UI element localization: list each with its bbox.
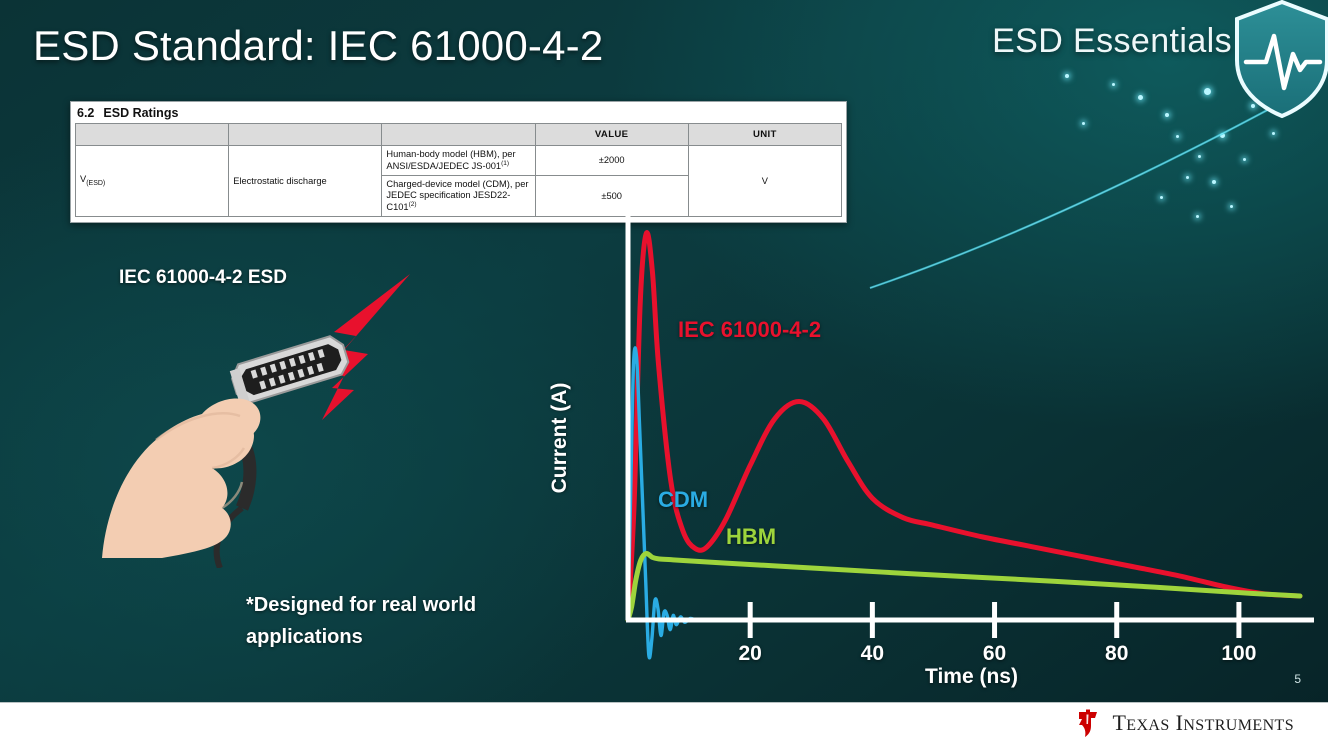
x-tick-label: 100 bbox=[1221, 642, 1256, 666]
page-title: ESD Standard: IEC 61000-4-2 bbox=[33, 22, 603, 70]
cell-value: ±2000 bbox=[535, 146, 688, 176]
texas-instruments-logo: TEXAS INSTRUMENTS bbox=[1073, 706, 1294, 740]
ti-texas-mark-icon bbox=[1073, 708, 1103, 738]
ti-wordmark-nstruments: NSTRUMENTS bbox=[1183, 717, 1294, 734]
hand-holding-hdmi-connector-icon bbox=[92, 258, 432, 568]
table-header-row: VALUE UNIT bbox=[76, 124, 842, 146]
x-tick-label: 60 bbox=[983, 642, 1006, 666]
table-header-parameter bbox=[229, 124, 382, 146]
symbol-subscript: (ESD) bbox=[86, 180, 105, 187]
x-tick-label: 20 bbox=[738, 642, 761, 666]
table-header-unit: UNIT bbox=[688, 124, 841, 146]
table-header-condition bbox=[382, 124, 535, 146]
chart-plot-area bbox=[560, 196, 1328, 696]
cell-parameter: Electrostatic discharge bbox=[229, 146, 382, 217]
table-section-heading: 6.2ESD Ratings bbox=[71, 102, 846, 123]
slide-canvas: ESD Standard: IEC 61000-4-2 ESD Essentia… bbox=[0, 0, 1328, 746]
ti-wordmark-t: T bbox=[1112, 710, 1126, 735]
esd-waveform-chart: 20406080100 bbox=[560, 196, 1328, 696]
series-label-iec: IEC 61000-4-2 bbox=[678, 317, 821, 343]
y-axis-label: Current (A) bbox=[548, 383, 572, 494]
shield-pulse-icon bbox=[1230, 0, 1328, 124]
table-header-symbol bbox=[76, 124, 229, 146]
ti-wordmark-exas: EXAS bbox=[1126, 717, 1169, 734]
footnote-marker: (1) bbox=[501, 160, 509, 167]
series-label-hbm: HBM bbox=[726, 524, 776, 550]
footnote-marker: (2) bbox=[409, 201, 417, 208]
table-section-title: ESD Ratings bbox=[103, 106, 178, 120]
table-header-value: VALUE bbox=[535, 124, 688, 146]
condition-text: Human-body model (HBM), per ANSI/ESDA/JE… bbox=[386, 149, 515, 171]
table-section-number: 6.2 bbox=[77, 106, 94, 120]
cell-symbol: V(ESD) bbox=[76, 146, 229, 217]
x-tick-label: 80 bbox=[1105, 642, 1128, 666]
page-number: 5 bbox=[1294, 672, 1301, 686]
cell-condition: Human-body model (HBM), per ANSI/ESDA/JE… bbox=[382, 146, 535, 176]
footnote-note: *Designed for real world applications bbox=[246, 589, 546, 653]
series-label-cdm: CDM bbox=[658, 487, 708, 513]
slide-footer: TEXAS INSTRUMENTS bbox=[0, 702, 1328, 746]
table-row: V(ESD) Electrostatic discharge Human-bod… bbox=[76, 146, 842, 176]
brand-label: ESD Essentials bbox=[992, 22, 1232, 61]
ti-wordmark: TEXAS INSTRUMENTS bbox=[1112, 710, 1294, 736]
x-tick-label: 40 bbox=[861, 642, 884, 666]
cell-condition: Charged-device model (CDM), per JEDEC sp… bbox=[382, 176, 535, 217]
x-axis-label: Time (ns) bbox=[925, 665, 1018, 689]
